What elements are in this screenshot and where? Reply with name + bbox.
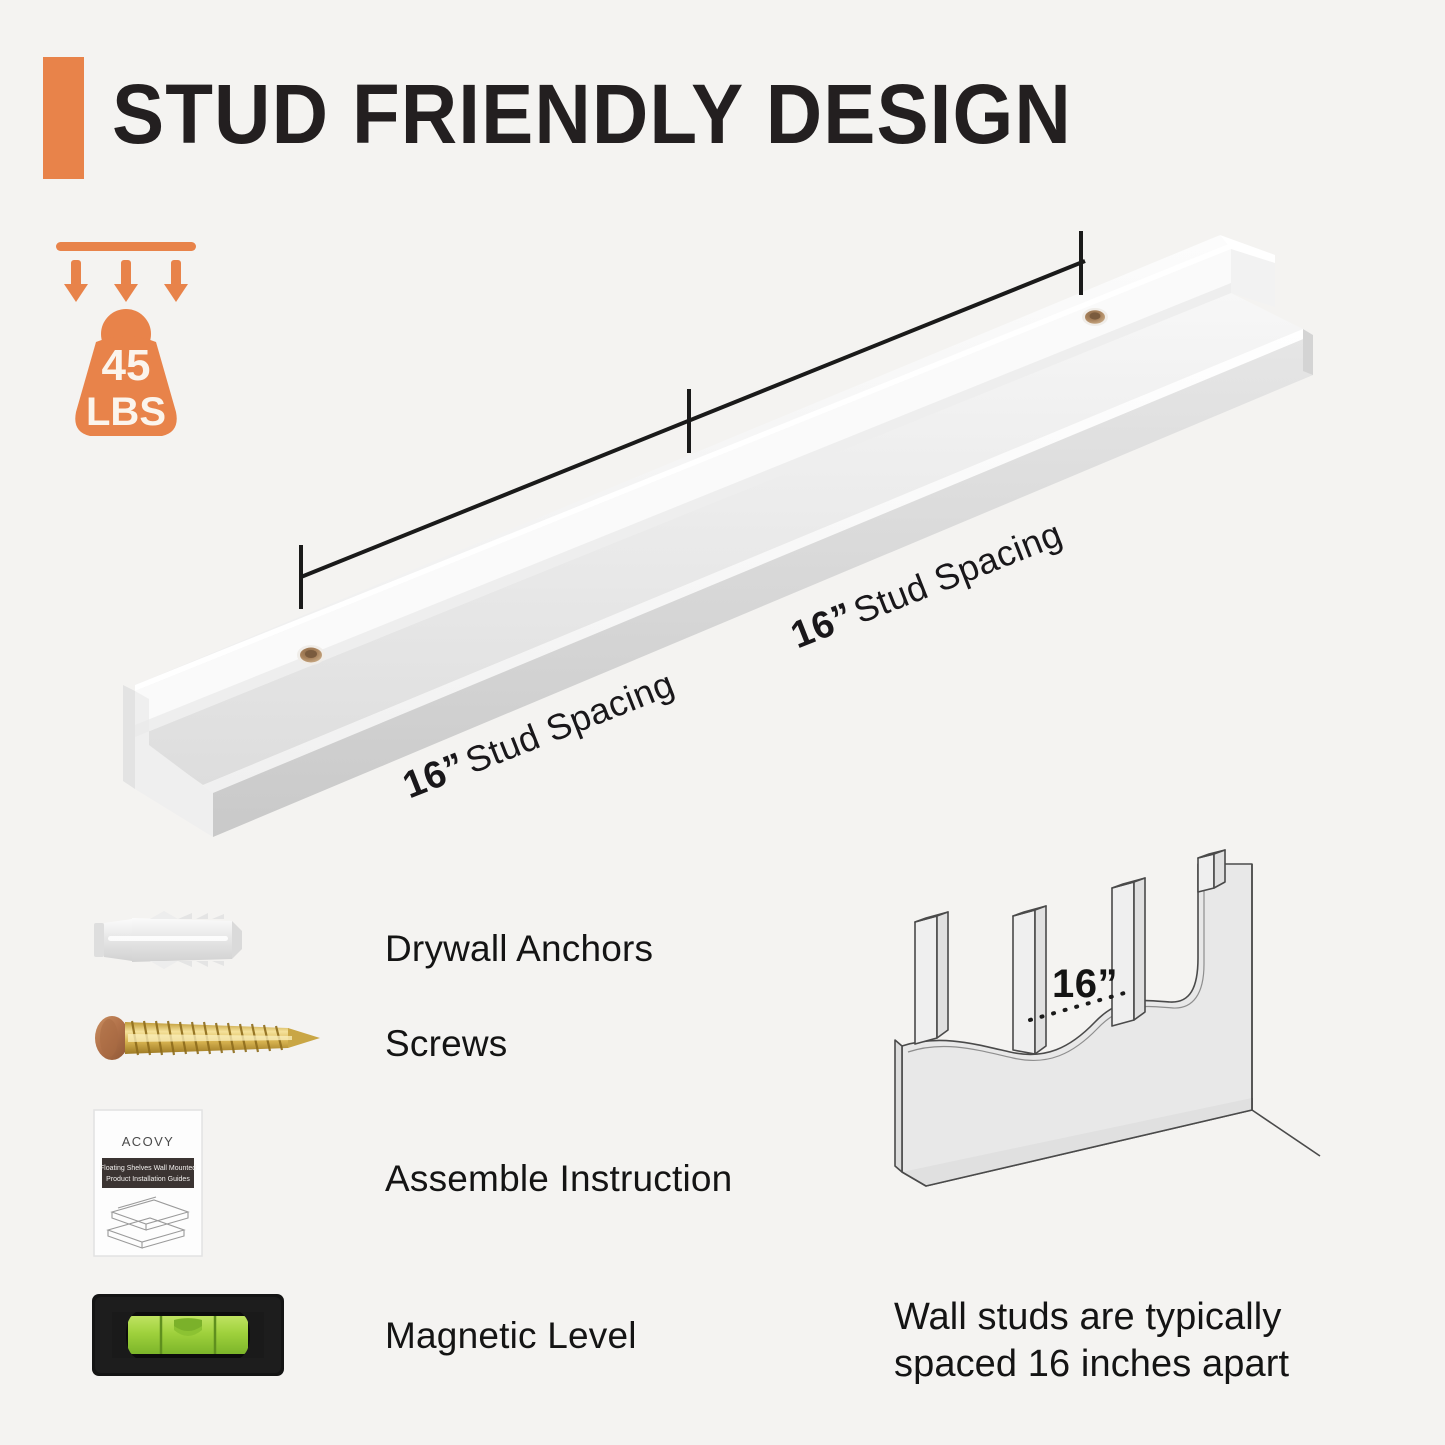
magnetic-level-icon [92, 1290, 284, 1380]
accessory-row-magnetic-level: Magnetic Level [92, 1290, 792, 1390]
instruction-manual-icon: ACOVY Floating Shelves Wall Mounted Prod… [92, 1108, 204, 1258]
wall-diagram-caption: Wall studs are typically spaced 16 inche… [894, 1294, 1364, 1388]
manual-subtitle-1: Floating Shelves Wall Mounted [100, 1165, 196, 1172]
screw-hole [297, 645, 325, 665]
header-accent-bar [43, 57, 84, 179]
accessory-label: Drywall Anchors [385, 928, 653, 970]
wall-stud-diagram [880, 848, 1370, 1268]
caption-line-2: spaced 16 inches apart [894, 1341, 1364, 1388]
accessory-label: Assemble Instruction [385, 1158, 732, 1200]
caption-line-1: Wall studs are typically [894, 1294, 1364, 1341]
infographic-root: STUD FRIENDLY DESIGN 45 LBS [0, 0, 1445, 1445]
accessory-row-drywall-anchors: Drywall Anchors [92, 905, 792, 1000]
screw-icon [92, 1010, 322, 1066]
accessory-label: Screws [385, 1023, 508, 1065]
accessory-label: Magnetic Level [385, 1315, 637, 1357]
wall-dimension-label: 16” [1052, 962, 1118, 1007]
page-title: STUD FRIENDLY DESIGN [112, 66, 1072, 162]
manual-subtitle-2: Product Installation Guides [106, 1176, 190, 1183]
hero-shelf-illustration: 16” Stud Spacing 16” Stud Spacing [95, 225, 1355, 845]
manual-brand: ACOVY [122, 1134, 175, 1149]
screw-hole [1082, 308, 1108, 326]
accessory-row-screws: Screws [92, 1010, 792, 1090]
accessory-row-assemble-instruction: ACOVY Floating Shelves Wall Mounted Prod… [92, 1108, 792, 1253]
drywall-anchor-icon [92, 905, 242, 975]
